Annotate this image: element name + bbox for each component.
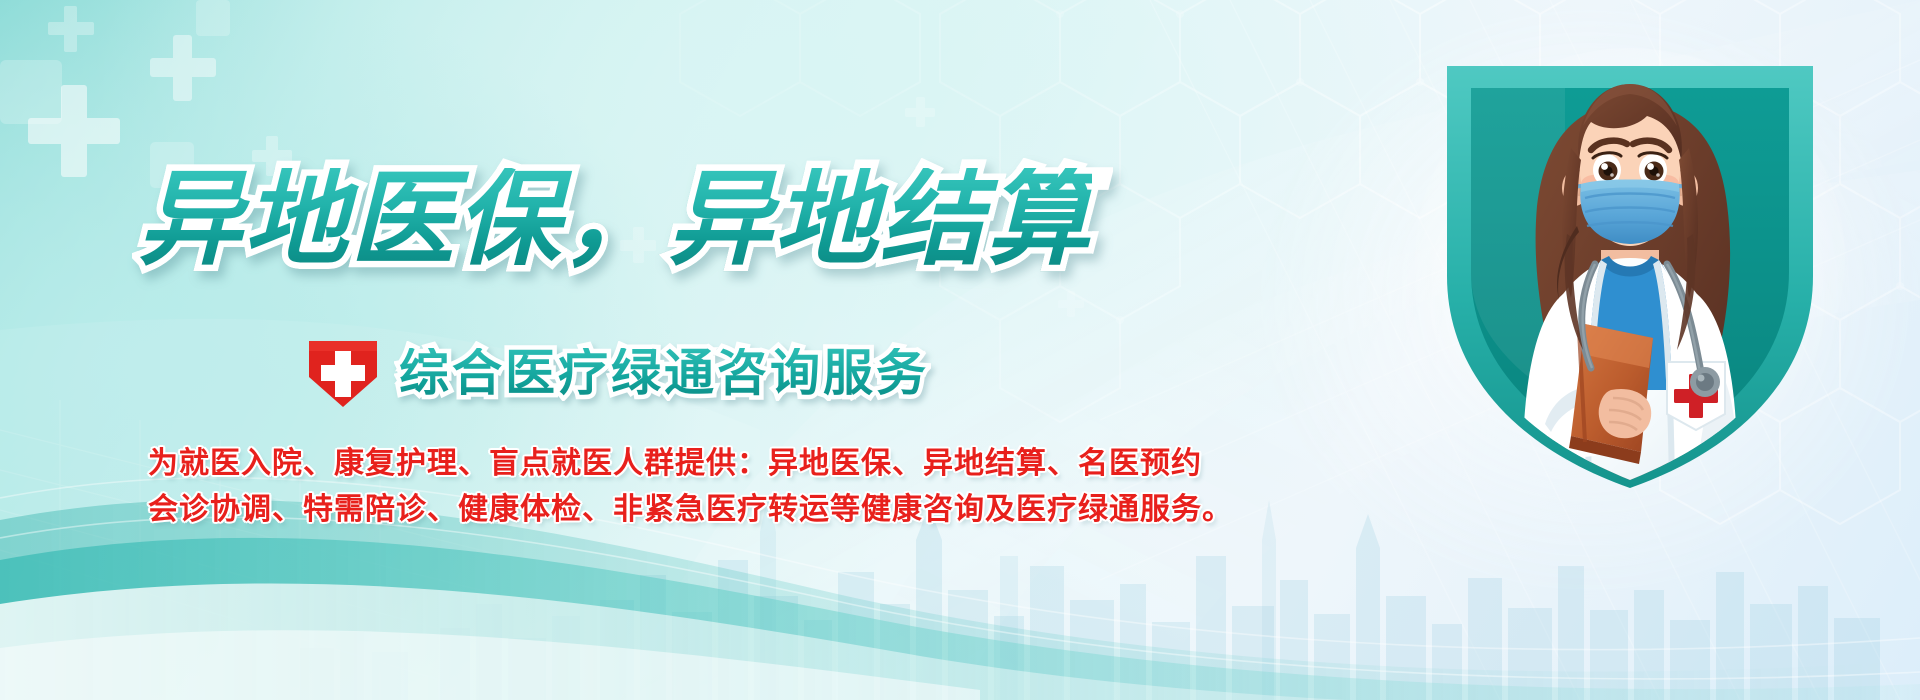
banner-description: 为就医入院、康复护理、盲点就医人群提供：异地医保、异地结算、名医预约 会诊协调、… <box>148 441 1233 532</box>
female-doctor-in-shield-graphic <box>1395 38 1865 488</box>
description-line-2: 会诊协调、特需陪诊、健康体检、非紧急医疗转运等健康咨询及医疗绿通服务。 <box>148 487 1233 533</box>
description-line-1: 为就医入院、康复护理、盲点就医人群提供：异地医保、异地结算、名医预约 <box>148 441 1233 487</box>
page-title: 异地医保，异地结算 <box>138 168 1092 272</box>
hand <box>1599 389 1651 438</box>
red-cross-medical-logo-icon <box>305 337 381 409</box>
banner-subtitle: 综合医疗绿通咨询服务 <box>399 348 929 398</box>
doctor-illustration <box>1395 38 1865 488</box>
banner-subtitle-row: 综合医疗绿通咨询服务 综合医疗绿通咨询服务 <box>305 337 929 409</box>
banner-text-content: 异地医保，异地结算 异地医保，异地结算 综合医疗绿通咨询服务 综合医疗绿通咨询服… <box>0 0 1240 700</box>
medical-service-banner: 异地医保，异地结算 异地医保，异地结算 综合医疗绿通咨询服务 综合医疗绿通咨询服… <box>0 0 1920 700</box>
banner-subtitle-wrap: 综合医疗绿通咨询服务 综合医疗绿通咨询服务 <box>399 348 929 398</box>
